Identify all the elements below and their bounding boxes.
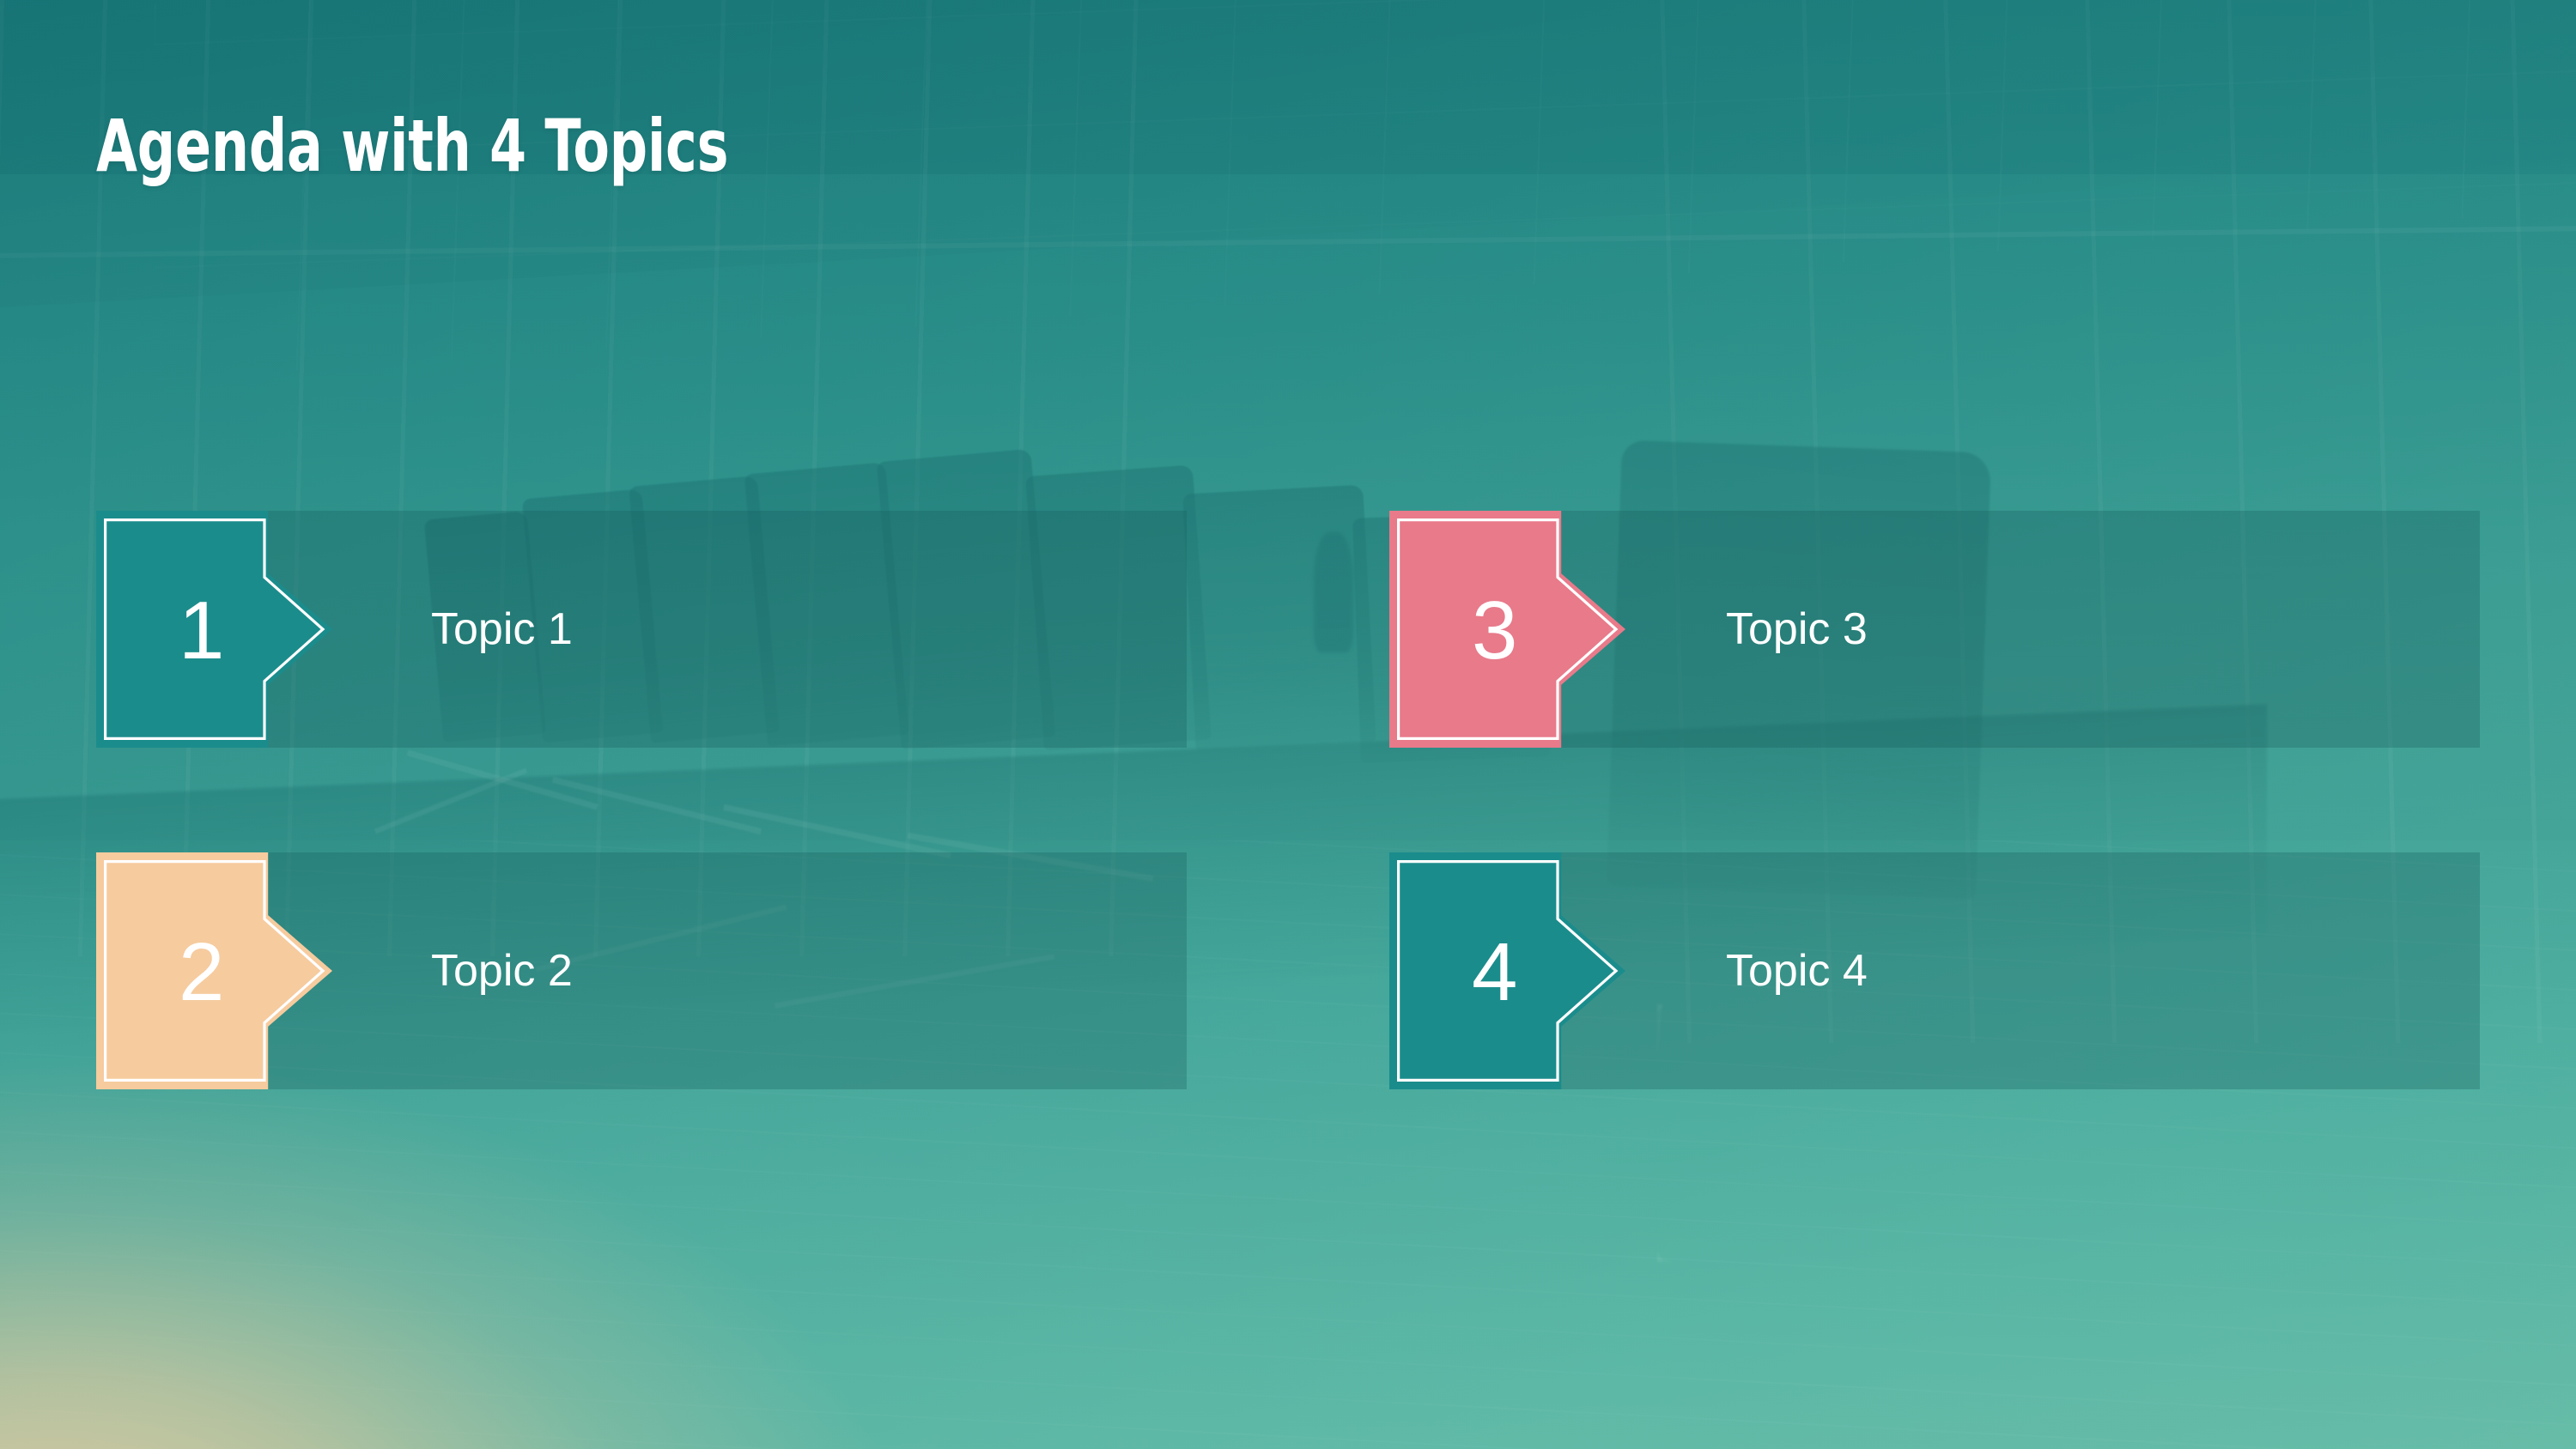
topic-number: 2 [179,931,224,1014]
topic-number: 4 [1472,931,1517,1014]
topic-row[interactable]: 3 Topic 3 [1389,511,2480,748]
agenda-slide: Agenda with 4 Topics 1 Topic 1 2 Topic 2 [0,0,2576,1449]
topic-number: 3 [1472,590,1517,672]
page-title: Agenda with 4 Topics [96,110,728,182]
topic-label: Topic 4 [1726,949,1868,993]
topic-label: Topic 2 [431,949,573,993]
topic-row[interactable]: 4 Topic 4 [1389,852,2480,1089]
topic-number: 1 [179,590,224,672]
topic-row[interactable]: 1 Topic 1 [96,511,1187,748]
topic-row[interactable]: 2 Topic 2 [96,852,1187,1089]
topic-label: Topic 1 [431,607,573,652]
topic-label: Topic 3 [1726,607,1868,652]
